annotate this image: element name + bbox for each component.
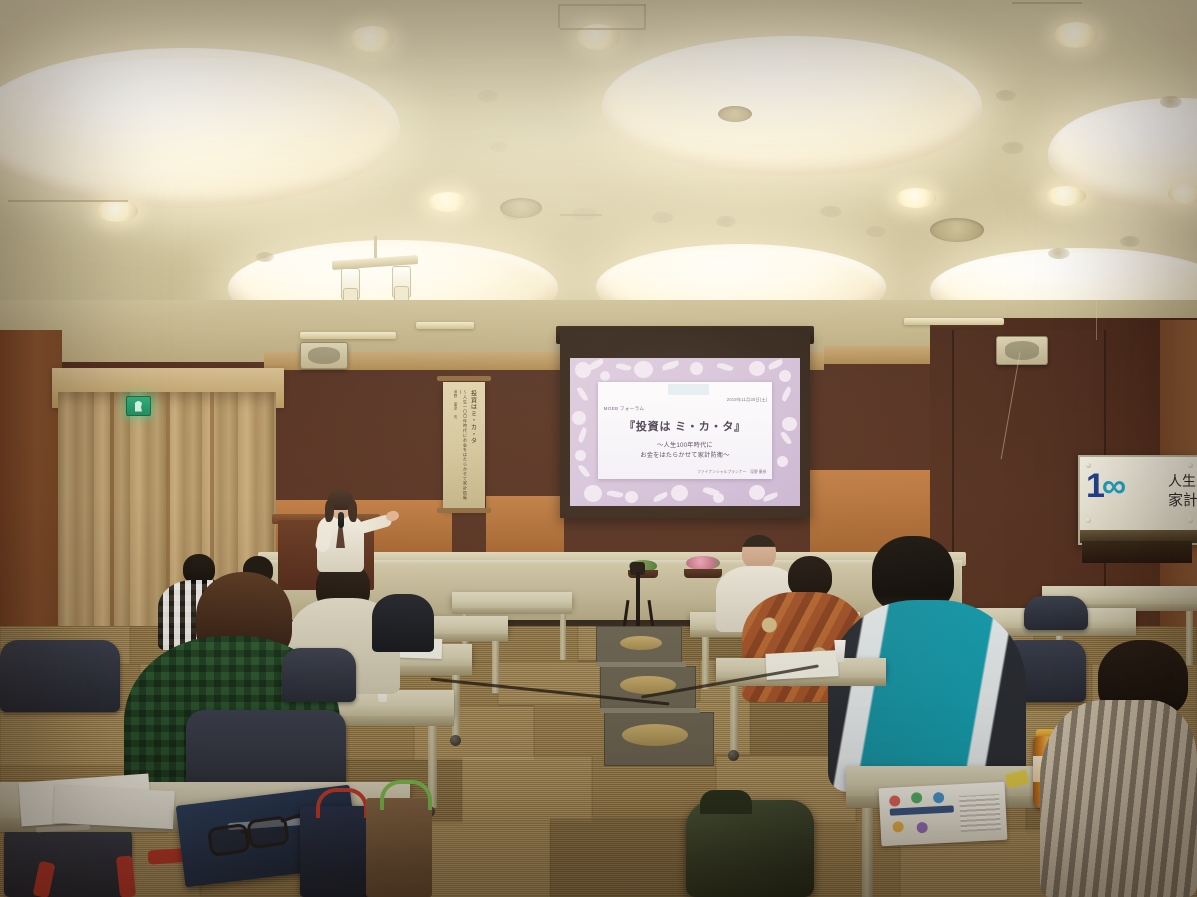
microphone-stand-pole [636, 572, 640, 630]
ceiling-fixture-13 [256, 252, 274, 262]
handheld-microphone [338, 512, 344, 528]
slide-logo-placeholder [668, 384, 710, 395]
ceiling-panel-line-2 [560, 28, 646, 30]
chandelier-bar [332, 255, 418, 270]
slide-motif-leaf-4 [717, 361, 734, 373]
brochure [879, 782, 1008, 847]
slide-motif-leaf-14 [763, 492, 779, 502]
brochure-dot-5 [916, 822, 928, 834]
slide-motif-berry-8 [575, 450, 586, 461]
audience-body-dark-top [372, 594, 434, 652]
tote-handle-red-2 [316, 788, 368, 818]
presenter-hair-side-right [348, 500, 357, 522]
table-leg [730, 686, 738, 752]
ceiling-fixture-7 [820, 206, 842, 217]
oval-ceiling-light-1 [0, 48, 400, 208]
slide-motif-leaf-3 [661, 361, 679, 371]
seminar-room-photo: 2019年11月30日(土) MOEB フォーラム 『投資は ミ・カ・タ』 ～人… [0, 0, 1197, 897]
slide-motif-berry-10 [777, 456, 788, 467]
tote-bag-brown [366, 798, 432, 897]
carpet-runner-band [600, 708, 700, 713]
ceiling-fixture-1 [478, 90, 498, 102]
carpet-tile [498, 662, 600, 704]
table-edge [452, 608, 572, 614]
slide-subtitle-line2: お金をはたらかせて家計防衛～ [598, 450, 773, 459]
backpack-handle [700, 790, 752, 814]
ceiling-fixture-10 [1002, 142, 1024, 154]
slide-kicker: MOEB フォーラム [604, 406, 645, 412]
slide-motif-leaf-9 [780, 386, 793, 402]
slide-motif-leaf-12 [652, 492, 668, 503]
brochure-title-bar [890, 805, 954, 815]
banner-credit-text: 深野 康彦 氏 [453, 390, 457, 502]
banner-main-text: 投資はミ・カ・タ [469, 390, 476, 502]
slide-motif-berry-5 [749, 361, 765, 376]
flower-arrangement-2 [684, 556, 722, 578]
table-caster [728, 750, 739, 761]
wall-speaker-left [300, 342, 348, 369]
slide-motif-berry-12 [625, 491, 638, 503]
carpet-tile [462, 756, 592, 822]
brochure-dot-1 [889, 795, 901, 807]
logo-numeral-one: 1 [1086, 469, 1103, 503]
slide-motif-berry-11 [584, 485, 602, 502]
ceiling-fixture-8 [866, 226, 886, 237]
brochure-dot-2 [911, 792, 923, 804]
slide-motif-berry-2 [600, 371, 610, 381]
slide-motif-leaf-11 [606, 489, 623, 499]
ceiling-fixture-4 [572, 208, 598, 220]
downlight-3 [1054, 22, 1098, 48]
slide-motif-berry-6 [779, 370, 791, 382]
wall-accent-panel-mid [486, 496, 564, 556]
slide-motif-leaf-7 [576, 427, 588, 443]
audience-body-teal-jacket [828, 600, 1026, 792]
downlight-1 [350, 26, 394, 52]
slide-credit: ファイナンシャルプランナー 深野 康彦 [697, 470, 766, 475]
carpet-runner-oval [622, 724, 688, 746]
ceiling-panel-line-4 [644, 4, 646, 28]
logo-jp-line1: 人生 [1168, 471, 1196, 491]
projection-screen-surface: 2019年11月30日(土) MOEB フォーラム 『投資は ミ・カ・タ』 ～人… [570, 358, 800, 506]
table-left-back [452, 592, 572, 608]
audience-body-striped-top [1040, 700, 1197, 897]
wall-speaker-right [996, 336, 1048, 365]
wall-accent-strip-2 [824, 346, 944, 364]
exit-sign [126, 396, 151, 416]
banner-rod-bottom [437, 508, 491, 513]
table-caster [450, 735, 461, 746]
ceiling-panel-line-5 [1012, 2, 1082, 4]
slide-motif-berry-9 [782, 417, 797, 431]
brochure-dot-3 [933, 792, 945, 804]
ceiling-fixture-11 [1048, 248, 1070, 259]
ceiling-vent-3 [718, 106, 752, 122]
ceiling-track-bar-mid [416, 322, 474, 329]
ceiling-panel-line-7 [560, 214, 602, 216]
presentation-slide: 2019年11月30日(土) MOEB フォーラム 『投資は ミ・カ・タ』 ～人… [570, 358, 800, 506]
sign-screw-br [1188, 518, 1193, 523]
eyeglasses-lens-left [207, 823, 251, 857]
handout-paper [53, 785, 175, 829]
sign-screw-tr [1188, 463, 1193, 468]
logo-numeral-double-zero: ∞ [1102, 469, 1120, 503]
ceiling-fixture-14 [1160, 96, 1182, 108]
table-leg [702, 637, 709, 689]
downlight-2 [576, 24, 620, 50]
backpack [686, 800, 814, 897]
slide-title: 『投資は ミ・カ・タ』 [598, 418, 773, 434]
slide-motif-berry-13 [671, 485, 688, 501]
presenter-hair-side-left [325, 500, 334, 522]
ceiling-track-bar-right [904, 318, 1004, 325]
ceiling-fixture-3 [502, 208, 526, 220]
chandelier-lamp-1 [341, 268, 360, 300]
logo-jp-line2: 家計 [1168, 489, 1197, 510]
chair-left-2 [0, 640, 120, 712]
banner-rod-top [437, 376, 491, 381]
ceiling-fixture-6 [716, 216, 736, 227]
downlight-5 [428, 192, 468, 212]
ceiling-fixture-9 [996, 90, 1016, 101]
slide-motif-leaf-1 [588, 358, 605, 370]
slide-motif-leaf-2 [615, 362, 631, 372]
banner-sub-text: ～人生一〇〇年時代にお金をはたらかせて家計防衛～ [458, 390, 467, 502]
flower-bloom-2 [686, 556, 721, 570]
handout-paper [765, 650, 838, 680]
exit-running-man-icon [135, 401, 142, 412]
ceiling-panel-line-1 [560, 4, 646, 6]
flower-pot-2 [684, 569, 722, 578]
tote-bag-dark [300, 806, 374, 897]
slide-motif-leaf-5 [767, 359, 783, 370]
tote-handle-green [380, 780, 432, 810]
table-leg [560, 614, 566, 660]
suspension-wire-2 [1096, 300, 1097, 340]
ceiling-fixture-2 [490, 142, 508, 152]
downlight-8 [1168, 184, 1197, 204]
vertical-banner: 投資はミ・カ・タ ～人生一〇〇年時代にお金をはたらかせて家計防衛～ 深野 康彦 … [443, 382, 485, 510]
hundred-year-life-sign: 1 ∞ 人生 家計 [1078, 455, 1197, 545]
table-leg [1186, 611, 1193, 665]
downlight-6 [896, 188, 936, 208]
slide-motif-leaf-8 [578, 463, 591, 478]
slide-motif-berry-3 [634, 361, 653, 378]
downlight-7 [1046, 186, 1086, 206]
ceiling-fixture-12 [1120, 236, 1140, 247]
slide-motif-berry-7 [572, 411, 586, 425]
brochure-text-block [959, 794, 1001, 832]
chair-left-1 [282, 648, 356, 702]
carpet-runner-oval [620, 636, 662, 650]
slide-subtitle-line1: ～人生100年時代に [598, 440, 773, 449]
ceiling-panel-line-3 [558, 4, 560, 28]
chandelier-rod [374, 236, 377, 262]
slide-date: 2019年11月30日(土) [727, 397, 768, 403]
chandelier-lamp-2 [392, 266, 411, 298]
slide-motif-leaf-6 [576, 385, 588, 401]
logo-100-icon: 1 ∞ [1086, 469, 1120, 503]
slide-content-card: 2019年11月30日(土) MOEB フォーラム 『投資は ミ・カ・タ』 ～人… [598, 382, 773, 480]
oval-ceiling-light-2 [602, 36, 982, 176]
ceiling-track-bar-left [300, 332, 396, 339]
oval-ceiling-light-3 [1048, 98, 1197, 210]
ceiling-panel-line-6 [8, 200, 128, 202]
slide-motif-berry-4 [690, 362, 703, 375]
audience-head-white-shirt [742, 535, 776, 569]
sign-screw-bl [1086, 518, 1091, 523]
table-leg [862, 808, 873, 897]
ceiling-vent-2 [930, 218, 984, 242]
carpet-runner-band [596, 662, 686, 667]
ceiling-vent-1 [500, 198, 542, 218]
slide-motif-leaf-10 [780, 430, 792, 445]
brochure-dot-4 [892, 821, 904, 833]
sign-stand [1082, 541, 1192, 563]
ceiling-fixture-5 [652, 212, 674, 223]
downlight-4 [96, 200, 138, 222]
chair-right-2 [1024, 596, 1088, 630]
